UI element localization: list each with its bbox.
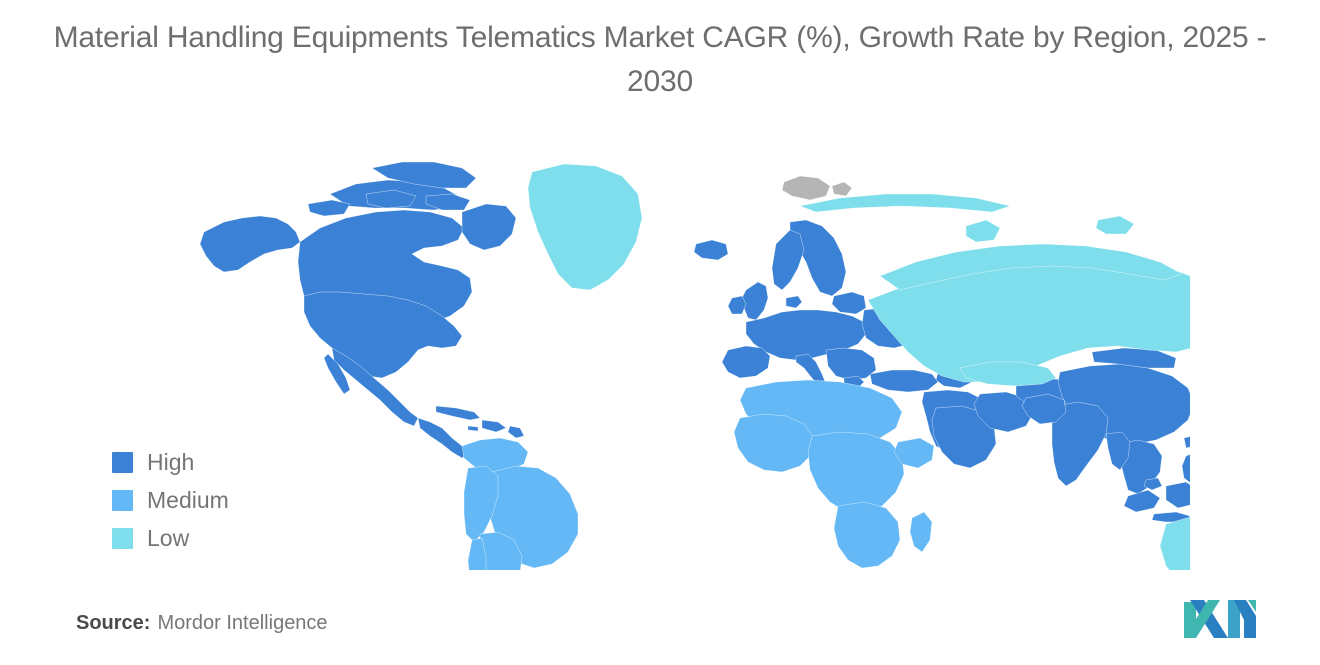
legend-label-medium: Medium [147,488,229,512]
market-map-infographic: Material Handling Equipments Telematics … [0,0,1320,665]
mordor-intelligence-logo[interactable] [1182,598,1258,640]
region-alaska [200,216,300,272]
region-indonesia-sumatra [1124,490,1160,512]
source-attribution: Source:Mordor Intelligence [76,612,328,635]
region-kazakhstan [960,362,1056,386]
region-turkey [870,370,938,392]
region-united-kingdom [742,282,768,320]
region-central-america [418,418,468,458]
legend-item-low[interactable]: Low [112,526,229,550]
legend-swatch-low [112,528,133,549]
region-baltic-states [832,292,866,314]
region-indonesia-borneo [1166,482,1190,508]
legend-swatch-medium [112,490,133,511]
region-iceland [694,240,728,260]
map-region-group-medium[interactable] [462,380,934,570]
region-novaya-zemlya [966,220,1000,242]
legend-swatch-high [112,452,133,473]
region-svalbard-small [832,182,852,196]
region-greenland [528,164,642,290]
region-denmark [786,296,802,308]
region-madagascar [910,512,932,552]
legend-label-low: Low [147,526,189,550]
source-label: Source: [76,612,150,634]
legend-label-high: High [147,450,194,474]
page-title: Material Handling Equipments Telematics … [28,16,1292,104]
region-ireland [728,296,746,314]
logo-svg [1182,598,1258,640]
world-choropleth-map [180,150,1190,570]
region-iberia [722,346,770,378]
region-norway-coast [772,230,804,290]
region-siberian-islands [1096,216,1134,234]
region-philippines [1182,452,1190,484]
legend-item-medium[interactable]: Medium [112,488,229,512]
region-australia [1160,514,1190,570]
map-legend: High Medium Low [112,450,229,550]
region-southern-africa [834,502,900,568]
region-central-east-africa [808,432,904,514]
legend-item-high[interactable]: High [112,450,229,474]
region-caribbean-islands [508,426,524,438]
region-canada-baffin [462,204,516,250]
region-jamaica [468,426,478,431]
region-taiwan [1184,436,1190,448]
region-balkans [826,348,876,380]
region-peru-bolivia [464,466,498,542]
region-arctic-fringe [800,194,1010,212]
region-hispaniola [482,420,506,432]
region-cuba [436,406,480,420]
world-map-svg [180,150,1190,570]
region-svalbard [782,176,830,200]
source-value: Mordor Intelligence [157,612,327,634]
